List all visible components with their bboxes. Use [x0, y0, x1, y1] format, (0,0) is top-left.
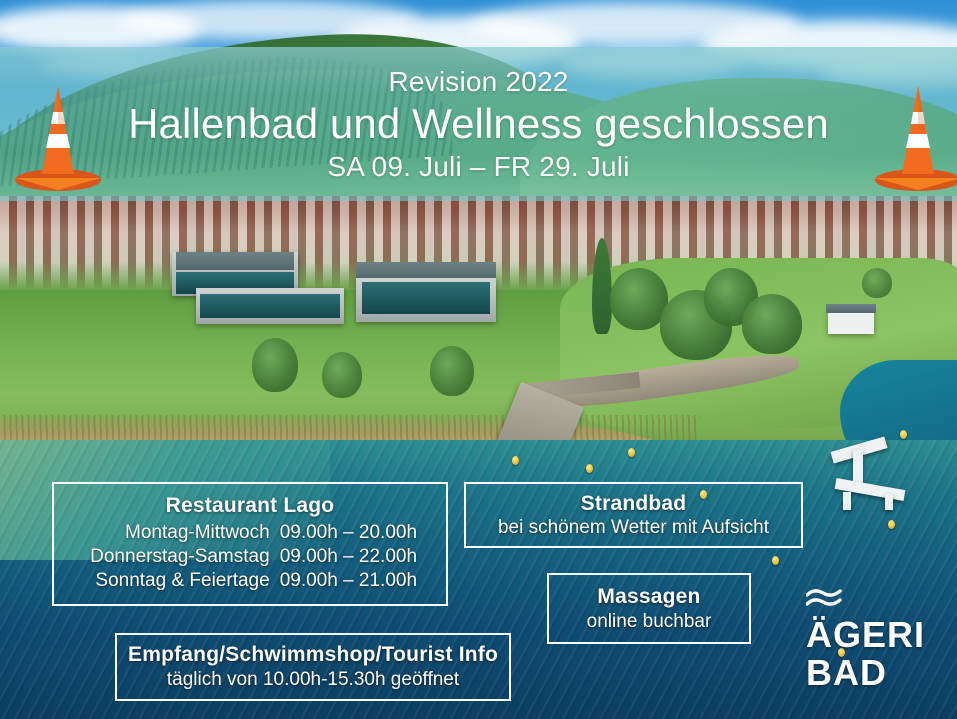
- header-dates: SA 09. Juli – FR 29. Juli: [327, 151, 629, 182]
- solar-roof: [176, 252, 294, 270]
- buoy: [512, 456, 519, 465]
- hours-time: 09.00h – 21.00h: [280, 569, 436, 593]
- info-box-empfang: Empfang/Schwimmshop/Tourist Info täglich…: [115, 633, 511, 701]
- diving-platform: [823, 440, 923, 512]
- hours-day: Donnerstag-Samstag: [64, 545, 280, 569]
- buoy: [586, 464, 593, 473]
- restaurant-hours-table: Montag-Mittwoch 09.00h – 20.00h Donnerst…: [64, 521, 436, 593]
- tree: [252, 338, 298, 392]
- traffic-cone-icon: [12, 82, 104, 194]
- traffic-cone-icon: [872, 82, 957, 194]
- info-box-massagen: Massagen online buchbar: [547, 573, 751, 644]
- header-eyebrow: Revision 2022: [388, 66, 568, 97]
- logo-line-2: BAD: [806, 654, 925, 692]
- buoy: [888, 520, 895, 529]
- logo-line-1: ÄGERI: [806, 616, 925, 654]
- massagen-title: Massagen: [557, 585, 741, 609]
- poster: Revision 2022 Hallenbad und Wellness ges…: [0, 0, 957, 719]
- glass-facade: [200, 294, 340, 318]
- info-box-strandbad: Strandbad bei schönem Wetter mit Aufsich…: [464, 482, 803, 548]
- glass-facade: [362, 282, 490, 314]
- empfang-title: Empfang/Schwimmshop/Tourist Info: [125, 643, 501, 667]
- buoy: [900, 430, 907, 439]
- buoy: [628, 448, 635, 457]
- hours-day: Sonntag & Feiertage: [64, 569, 280, 593]
- tree: [742, 294, 802, 354]
- lakeside-house: [828, 310, 874, 334]
- tree: [430, 346, 474, 396]
- tree: [862, 268, 892, 298]
- info-box-restaurant: Restaurant Lago Montag-Mittwoch 09.00h –…: [52, 482, 448, 606]
- lakeside-house-roof: [826, 304, 876, 313]
- buoy: [772, 556, 779, 565]
- brand-logo: ÄGERI BAD: [806, 588, 925, 692]
- strandbad-note: bei schönem Wetter mit Aufsicht: [474, 517, 793, 539]
- page-title: Hallenbad und Wellness geschlossen: [128, 100, 829, 147]
- header-text-block: Revision 2022 Hallenbad und Wellness ges…: [0, 47, 957, 201]
- table-row: Montag-Mittwoch 09.00h – 20.00h: [64, 521, 436, 545]
- strandbad-title: Strandbad: [474, 492, 793, 516]
- hours-day: Montag-Mittwoch: [64, 521, 280, 545]
- restaurant-title: Restaurant Lago: [64, 494, 436, 518]
- tree: [322, 352, 362, 398]
- empfang-note: täglich von 10.00h-15.30h geöffnet: [125, 669, 501, 691]
- table-row: Sonntag & Feiertage 09.00h – 21.00h: [64, 569, 436, 593]
- table-row: Donnerstag-Samstag 09.00h – 22.00h: [64, 545, 436, 569]
- wave-icon: [806, 588, 842, 610]
- massagen-note: online buchbar: [557, 611, 741, 633]
- hours-time: 09.00h – 22.00h: [280, 545, 436, 569]
- hours-time: 09.00h – 20.00h: [280, 521, 436, 545]
